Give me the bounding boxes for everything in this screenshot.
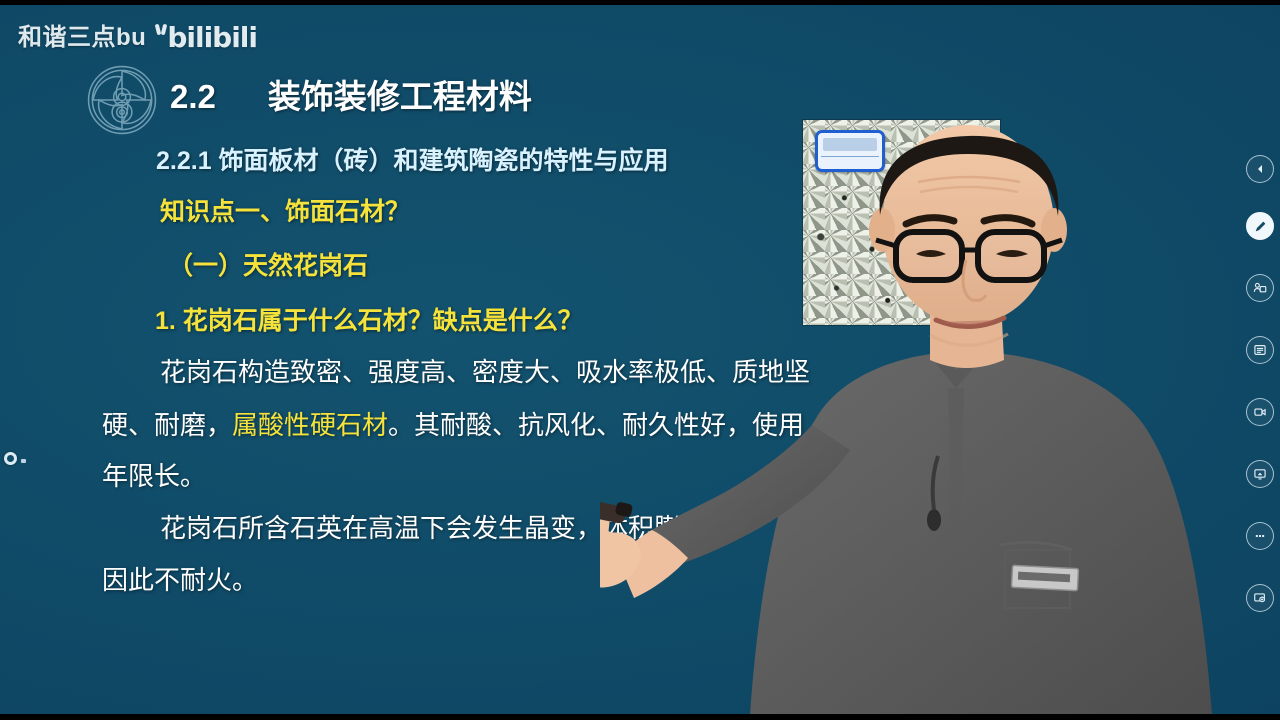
- question-line: 1. 花岗石属于什么石材？缺点是什么？: [155, 301, 583, 337]
- sub-heading: （一）天然花岗石: [168, 246, 368, 282]
- more-options-icon[interactable]: [1246, 522, 1274, 550]
- collapse-panel-icon[interactable]: [1246, 155, 1274, 183]
- body-line-5: 因此不耐火。: [102, 560, 258, 597]
- highlighted-phrase: 属酸性硬石材: [232, 410, 388, 440]
- page-title: 2.2 装饰装修工程材料: [170, 70, 532, 118]
- people-group-icon[interactable]: [1246, 274, 1274, 302]
- left-edge-toggle-icon[interactable]: [4, 452, 17, 465]
- section-title: 装饰装修工程材料: [268, 70, 532, 118]
- bilibili-logo-icon: bilibili: [155, 24, 257, 52]
- document-list-icon[interactable]: [1246, 336, 1274, 364]
- pen-edit-icon[interactable]: [1246, 212, 1274, 240]
- subsection-heading: 2.2.1 饰面板材（砖）和建筑陶瓷的特性与应用: [156, 141, 669, 177]
- right-toolbar: [1240, 5, 1280, 715]
- presentation-screen-icon[interactable]: [1246, 584, 1274, 612]
- video-camera-icon[interactable]: [1246, 398, 1274, 426]
- spiral-rosette-emblem-icon: [84, 62, 160, 138]
- screen-share-icon[interactable]: [1246, 460, 1274, 488]
- section-number: 2.2: [170, 78, 216, 116]
- knowledge-point-heading: 知识点一、饰面石材？: [160, 192, 410, 228]
- channel-watermark: 和谐三点bu bilibili: [18, 22, 257, 50]
- video-player-stage: 和谐三点bu bilibili 2.2 装饰装: [0, 0, 1280, 720]
- uploader-name: 和谐三点bu: [18, 26, 146, 50]
- letterbox-top: [0, 0, 1280, 5]
- body-line-3: 年限长。: [102, 456, 206, 493]
- letterbox-bottom: [0, 714, 1280, 720]
- body-line-2-part-a: 硬、耐磨，: [102, 410, 232, 440]
- bilibili-logo-text: bilibili: [167, 21, 257, 54]
- presenter-instructor: [600, 120, 1280, 715]
